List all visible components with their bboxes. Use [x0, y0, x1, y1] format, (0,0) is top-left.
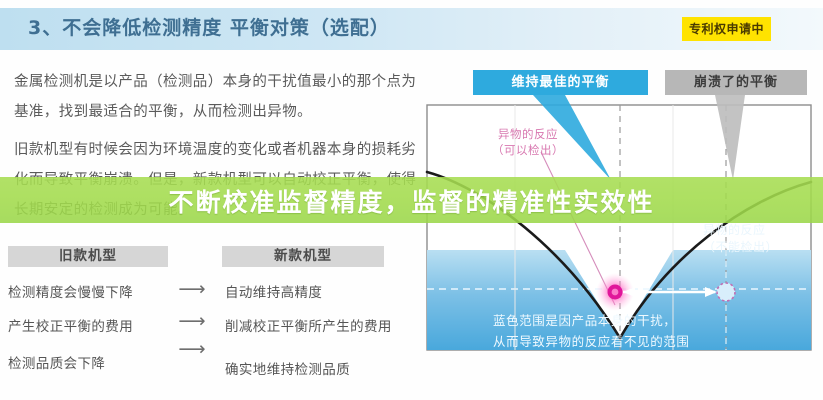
banner-headline: 不断校准监督精度，监督的精准性实效性 [0, 183, 823, 219]
arrow-icon: ⟶ [170, 312, 214, 331]
table-cell-new-3: 确实地维持检测品质 [225, 358, 350, 378]
note-detectable-line-1: 异物的反应 [492, 126, 564, 142]
table-header-new-model: 新款机型 [222, 246, 384, 267]
page-title: 3、不会降低检测精度 平衡对策（选配） [28, 13, 390, 40]
diagram-caption: 蓝色范围是因产品本身的干扰， 从而导致异物的反应看不见的范围 [493, 310, 690, 352]
arrow-icon: ⟶ [170, 340, 214, 359]
diagram-caption-line-1: 蓝色范围是因产品本身的干扰， [493, 310, 690, 331]
body-paragraph-1: 金属检测机是以产品（检测品）本身的干扰值最小的那个点为 [14, 70, 416, 91]
table-cell-old-3: 检测品质会下降 [8, 352, 105, 372]
table-cell-new-2: 削减校正平衡所产生的费用 [225, 315, 392, 335]
label-optimal-balance: 维持最佳的平衡 [473, 70, 648, 95]
arrow-icon: ⟶ [170, 280, 214, 299]
table-cell-new-1: 自动维持高精度 [225, 281, 322, 301]
table-cell-old-1: 检测精度会慢慢下降 [8, 281, 133, 301]
note-undetectable-line-2: （不能检出） [703, 239, 778, 256]
table-cell-old-2: 产生校正平衡的费用 [8, 315, 133, 335]
body-paragraph-3: 旧款机型有时候会因为环境温度的变化或者机器本身的损耗劣 [14, 138, 416, 159]
page-root: foodi com 3、不会降低检测精度 平衡对策（选配） 专利权申请中 金属检… [0, 0, 823, 400]
patent-pending-badge: 专利权申请中 [682, 17, 771, 41]
note-detectable-line-2: （可以检出） [492, 142, 564, 158]
balance-diagram: 维持最佳的平衡 崩溃了的平衡 异物的反应 （可以检出） 异物的反应 （不能检出）… [415, 60, 823, 400]
note-undetectable-line-1: 异物的反应 [703, 222, 778, 239]
note-undetectable: 异物的反应 （不能检出） [703, 222, 778, 256]
table-header-old-model: 旧款机型 [8, 246, 168, 267]
diagram-caption-line-2: 从而导致异物的反应看不见的范围 [493, 331, 690, 352]
label-broken-balance: 崩溃了的平衡 [665, 70, 807, 95]
note-detectable: 异物的反应 （可以检出） [492, 126, 564, 158]
comparison-table: 旧款机型 新款机型 检测精度会慢慢下降 ⟶ 自动维持高精度 产生校正平衡的费用 … [0, 240, 410, 400]
body-paragraph-2: 基准，找到最适合的平衡，从而检测出异物。 [14, 100, 312, 121]
